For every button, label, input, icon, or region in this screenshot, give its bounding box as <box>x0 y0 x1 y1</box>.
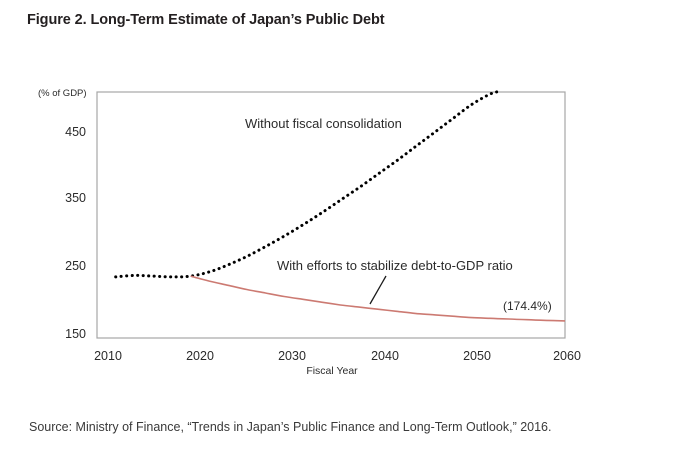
long-term-debt-line-chart: (% of GDP) 450 350 250 150 2010 2020 203… <box>0 60 680 390</box>
y-axis-unit-label: (% of GDP) <box>38 88 87 99</box>
y-tick-label-450: 450 <box>65 125 86 139</box>
y-tick-label-150: 150 <box>65 327 86 341</box>
x-tick-label-2050: 2050 <box>463 349 491 363</box>
endpoint-value-annotation: (174.4%) <box>503 299 552 313</box>
chart-container: (% of GDP) 450 350 250 150 2010 2020 203… <box>0 60 680 390</box>
x-tick-label-2030: 2030 <box>278 349 306 363</box>
x-tick-label-2040: 2040 <box>371 349 399 363</box>
without-consolidation-annotation: Without fiscal consolidation <box>245 116 402 131</box>
y-tick-label-350: 350 <box>65 191 86 205</box>
x-tick-label-2020: 2020 <box>186 349 214 363</box>
x-tick-label-2010: 2010 <box>94 349 122 363</box>
x-tick-label-2060: 2060 <box>553 349 581 363</box>
page-title: Figure 2. Long-Term Estimate of Japan’s … <box>27 12 384 28</box>
x-axis-label: Fiscal Year <box>306 365 358 377</box>
with-consolidation-annotation: With efforts to stabilize debt-to-GDP ra… <box>277 258 513 273</box>
source-note: Source: Ministry of Finance, “Trends in … <box>29 420 551 434</box>
y-tick-label-250: 250 <box>65 259 86 273</box>
